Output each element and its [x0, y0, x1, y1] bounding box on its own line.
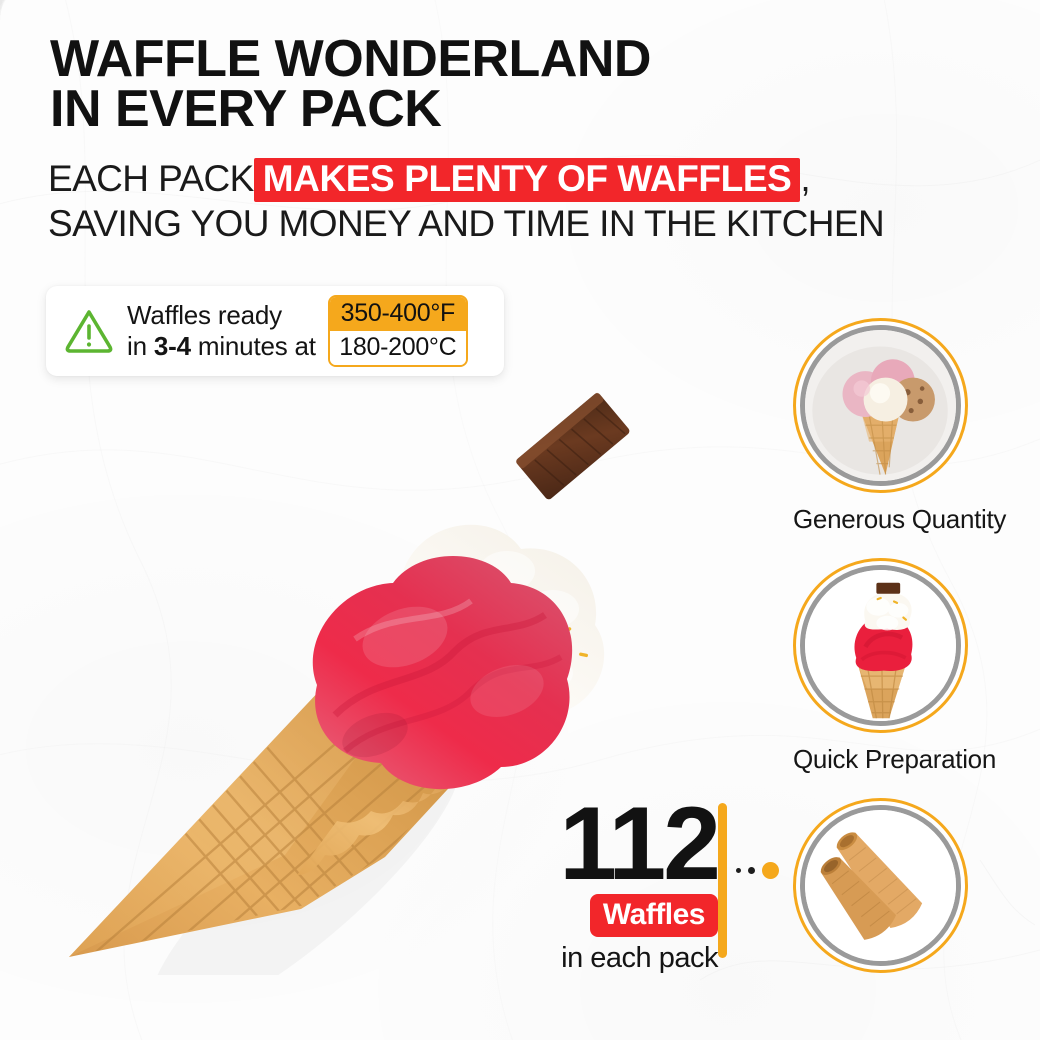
- subheadline-prefix: EACH PACK: [48, 158, 254, 199]
- subheadline-line-2: SAVING YOU MONEY AND TIME IN THE KITCHEN: [48, 202, 948, 245]
- waffles-badge: Waffles: [590, 894, 718, 937]
- connector-dot-small: [736, 868, 741, 873]
- empty-waffle-cones-icon: [805, 810, 956, 961]
- feature-generous-quantity[interactable]: Generous Quantity: [793, 318, 1006, 535]
- feature-circle-inner: [800, 805, 961, 966]
- feature-circle-frame: [793, 318, 968, 493]
- connector-dot-large: [762, 862, 779, 879]
- feature-label-2: Quick Preparation: [793, 744, 996, 775]
- subheadline-highlight: MAKES PLENTY OF WAFFLES: [254, 158, 801, 202]
- headline-line-2: IN EVERY PACK: [50, 84, 790, 134]
- feature-circle-inner: [800, 565, 961, 726]
- feature-label-1: Generous Quantity: [793, 504, 1006, 535]
- ready-text-line-2: in 3-4 minutes at: [127, 331, 316, 362]
- feature-waffle-cones[interactable]: [793, 798, 968, 984]
- subheadline: EACH PACKMAKES PLENTY OF WAFFLES, SAVING…: [48, 157, 948, 245]
- ready-post: minutes at: [191, 331, 316, 361]
- feature-circle-frame: [793, 798, 968, 973]
- headline-line-1: WAFFLE WONDERLAND: [50, 34, 790, 84]
- ready-minutes: 3-4: [154, 331, 191, 361]
- feature-circle-frame: [793, 558, 968, 733]
- connector-bar: [718, 803, 727, 958]
- page-title: WAFFLE WONDERLAND IN EVERY PACK: [50, 34, 790, 134]
- warning-triangle-icon: [62, 305, 116, 357]
- subheadline-line-1: EACH PACKMAKES PLENTY OF WAFFLES,: [48, 157, 948, 202]
- ready-text: Waffles ready in 3-4 minutes at: [127, 300, 316, 362]
- ready-text-line-1: Waffles ready: [127, 300, 316, 331]
- ice-cream-cone-three-scoops-icon: [805, 330, 956, 481]
- connector-dot-medium: [748, 867, 755, 874]
- temperature-celsius: 180-200°C: [330, 331, 466, 365]
- subheadline-suffix: ,: [800, 158, 810, 199]
- temperature-box: 350-400°F 180-200°C: [328, 295, 468, 367]
- ready-pre: in: [127, 331, 154, 361]
- waffle-count-block: 112 Waffles in each pack: [528, 798, 718, 975]
- feature-circle-inner: [800, 325, 961, 486]
- temperature-fahrenheit: 350-400°F: [330, 297, 466, 331]
- connector-dots: [736, 862, 779, 879]
- strawberry-ice-cream-cone-icon: [805, 570, 956, 721]
- waffle-count-subtitle: in each pack: [528, 942, 718, 975]
- feature-quick-preparation[interactable]: Quick Preparation: [793, 558, 996, 775]
- waffle-count-number: 112: [528, 798, 718, 890]
- waffle-count-badge-wrap: Waffles: [528, 894, 718, 937]
- waffles-ready-card: Waffles ready in 3-4 minutes at 350-400°…: [46, 286, 504, 376]
